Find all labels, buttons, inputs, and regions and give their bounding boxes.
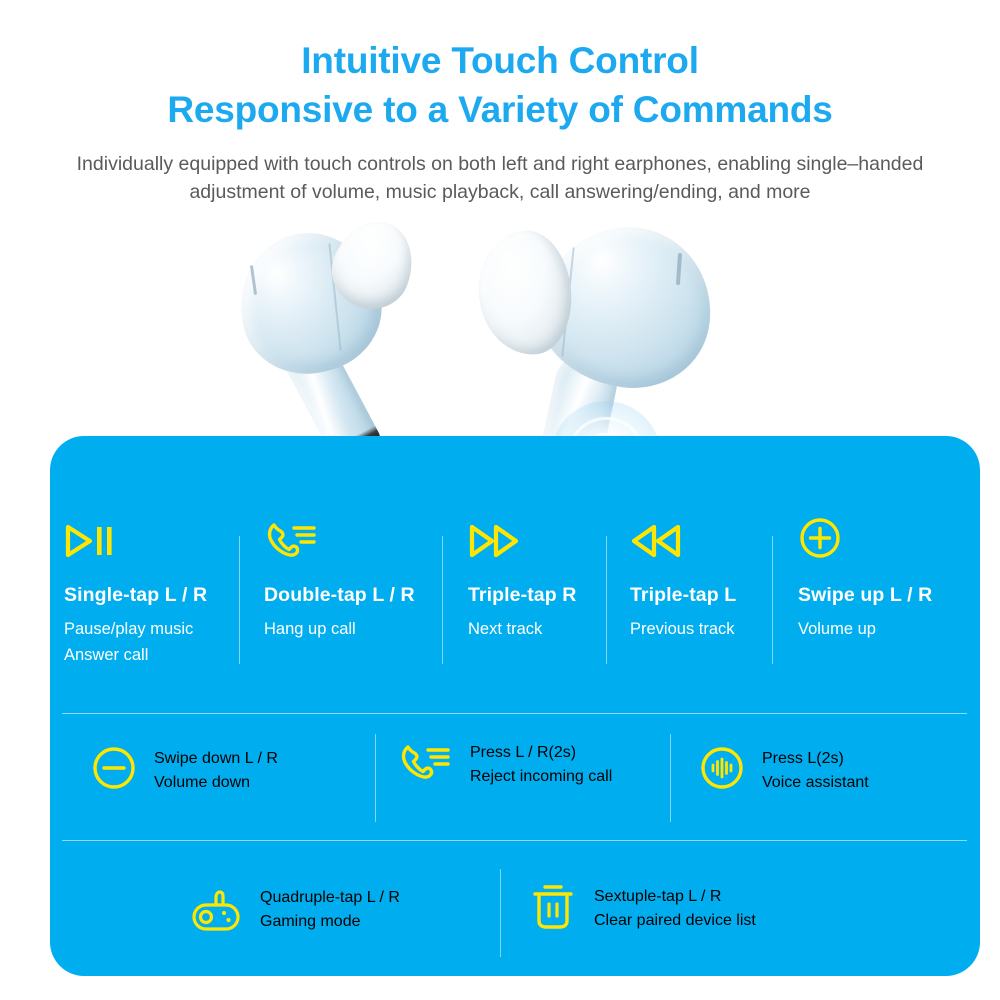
feature-label: Double-tap L / R [264,584,439,607]
feature-triple-tap-l[interactable]: Triple-tap L Previous track [630,524,790,643]
row2-divider-1 [375,734,376,822]
page-header: Intuitive Touch Control Responsive to a … [0,0,1000,207]
feature-desc: Voice assistant [762,774,869,792]
feature-label: Triple-tap L [630,584,790,607]
feature-label: Triple-tap R [468,584,618,607]
feature-row-1: Single-tap L / R Pause/play music Answer… [50,436,980,714]
gamepad-icon [188,879,244,940]
feature-desc: Gaming mode [260,913,400,931]
feature-label: Press L(2s) [762,750,869,768]
feature-desc-line-1: Next track [468,617,618,643]
page-subtitle: Individually equipped with touch control… [0,150,1000,207]
page-subtitle-line-1: Individually equipped with touch control… [0,150,1000,178]
feature-swipe-down[interactable]: Swipe down L / R Volume down [90,744,278,797]
feature-label: Quadruple-tap L / R [260,889,400,907]
row2-divider-2 [670,734,671,822]
feature-desc-line-1: Pause/play music [64,617,239,643]
feature-desc-line-1: Volume up [798,617,968,643]
feature-desc-line-1: Hang up call [264,617,439,643]
rewind-icon [630,524,790,568]
left-earbud [230,215,450,465]
feature-double-tap[interactable]: Double-tap L / R Hang up call [264,520,439,643]
feature-triple-tap-r[interactable]: Triple-tap R Next track [468,524,618,643]
play-pause-icon [64,524,239,568]
minus-circle-icon [90,744,138,797]
feature-row-3: Quadruple-tap L / R Gaming mode Sextuple… [50,841,980,976]
feature-desc: Volume down [154,774,278,792]
phone-hangup-icon [264,520,439,564]
feature-desc: Clear paired device list [594,912,756,930]
page-title-line-2: Responsive to a Variety of Commands [0,91,1000,128]
row1-divider-4 [772,536,773,664]
feature-sextuple-tap[interactable]: Sextuple-tap L / R Clear paired device l… [528,879,756,938]
touch-control-panel: Single-tap L / R Pause/play music Answer… [50,436,980,976]
feature-desc: Reject incoming call [470,768,612,786]
feature-single-tap[interactable]: Single-tap L / R Pause/play music Answer… [64,524,239,668]
row1-divider-3 [606,536,607,664]
feature-label: Sextuple-tap L / R [594,888,756,906]
feature-voice-assistant[interactable]: Press L(2s) Voice assistant [698,744,869,797]
plus-circle-icon [798,516,968,560]
feature-label: Swipe up L / R [798,584,968,607]
page-subtitle-line-2: adjustment of volume, music playback, ca… [0,178,1000,206]
row1-divider-1 [239,536,240,664]
phone-reject-icon [398,742,454,787]
feature-press-reject[interactable]: Press L / R(2s) Reject incoming call [398,742,612,787]
feature-desc-line-2: Answer call [64,643,239,669]
trash-icon [528,879,578,938]
fast-forward-icon [468,524,618,568]
feature-label: Single-tap L / R [64,584,239,607]
feature-swipe-up[interactable]: Swipe up L / R Volume up [798,516,968,643]
feature-quadruple-tap[interactable]: Quadruple-tap L / R Gaming mode [188,879,400,940]
feature-label: Press L / R(2s) [470,744,612,762]
feature-desc-line-1: Previous track [630,617,790,643]
feature-label: Swipe down L / R [154,750,278,768]
page-title-line-1: Intuitive Touch Control [0,42,1000,79]
row1-divider-2 [442,536,443,664]
feature-row-2: Swipe down L / R Volume down Press L / R… [50,714,980,840]
voice-assistant-icon [698,744,746,797]
row3-divider-1 [500,869,501,957]
